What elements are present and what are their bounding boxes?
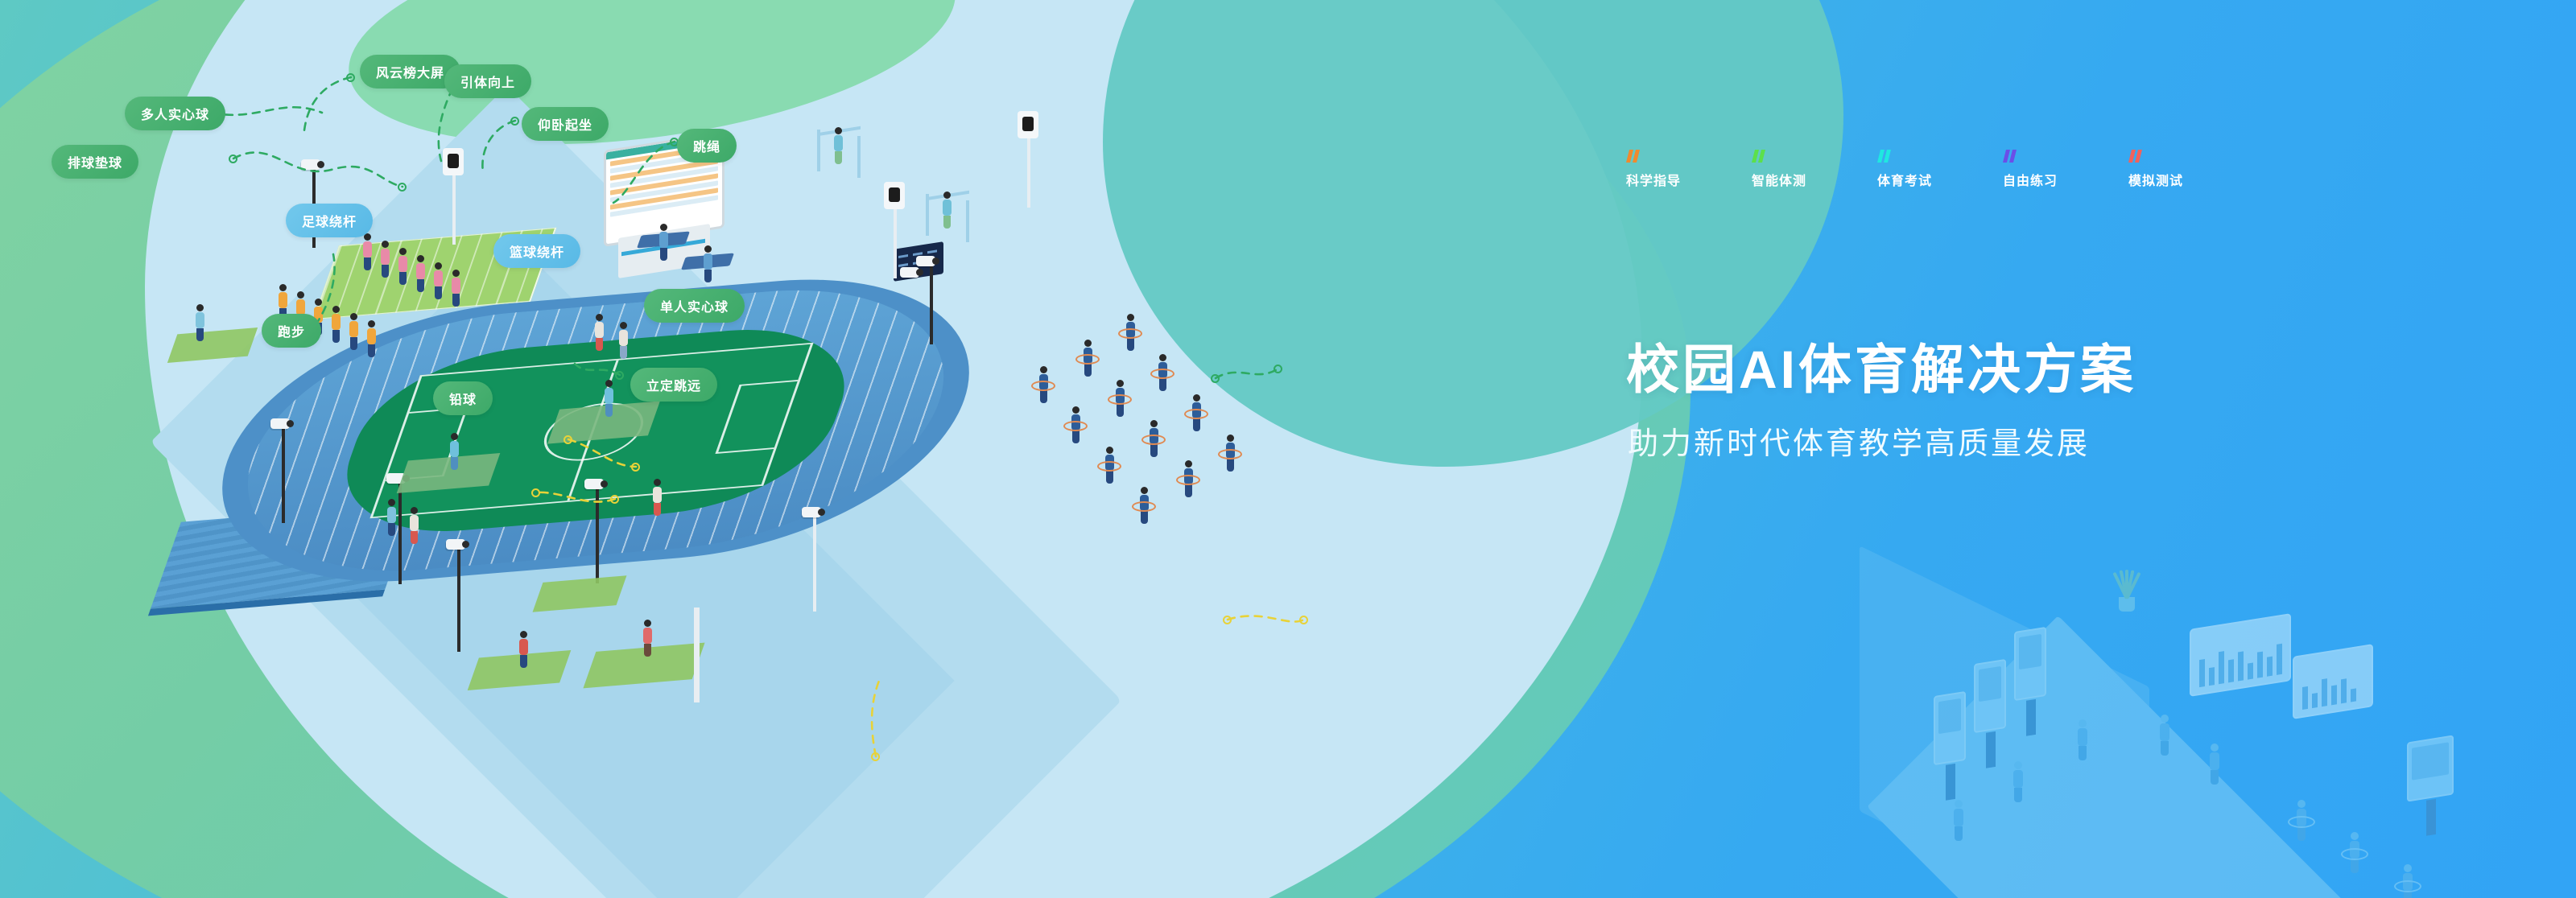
connector-dot	[631, 463, 640, 472]
pill-text: 仰卧起坐	[538, 114, 592, 134]
connector-dot	[1274, 365, 1282, 373]
cctv-camera-icon	[900, 267, 919, 278]
boxcam-pole	[894, 209, 897, 278]
person-longjump	[642, 620, 652, 657]
person-hoop	[1115, 380, 1125, 417]
person-shotput	[518, 631, 528, 668]
person-football	[604, 380, 613, 417]
right-content: 科学指导 智能体测 体育考试	[1618, 0, 2576, 898]
person-runner	[594, 314, 604, 351]
person-pullup	[942, 192, 952, 229]
ai-box-camera-icon	[443, 148, 464, 175]
connector-dot	[1223, 616, 1232, 624]
slash-bar	[2009, 150, 2017, 163]
connector-dot	[229, 154, 237, 163]
banner-root: 多人实心球 排球垫球 风云榜大屏 引体向上 仰卧起坐 跳绳 足球绕杆 篮球绕杆 …	[0, 0, 2576, 898]
person-hoop	[1183, 460, 1193, 497]
feature-list: 科学指导 智能体测 体育考试	[1626, 150, 2254, 189]
cctv-camera-icon	[584, 479, 604, 489]
person	[362, 233, 372, 270]
person	[451, 270, 460, 307]
connector-dot	[346, 73, 355, 82]
ai-box-camera-icon	[1018, 111, 1038, 138]
person	[415, 255, 425, 292]
cctv-camera-icon	[446, 539, 465, 550]
connector-dot	[531, 488, 540, 497]
isometric-campus-scene	[121, 80, 1489, 821]
slash-icon	[1626, 150, 1752, 163]
boxcam-pole	[452, 175, 456, 245]
person-hoop	[1083, 340, 1092, 377]
person-hoop	[1104, 447, 1114, 484]
label-pill-yangwoqizuo[interactable]: 仰卧起坐	[522, 107, 609, 141]
person-runner	[652, 479, 662, 516]
pill-text: 跳绳	[693, 136, 720, 155]
person-hoop	[1038, 366, 1048, 403]
person-hoop	[1158, 354, 1167, 391]
slash-icon	[1877, 150, 2003, 163]
cctv-camera-icon	[916, 256, 935, 266]
person	[433, 262, 443, 299]
long-jump-marker-pole	[694, 608, 700, 702]
person-hoop	[1191, 394, 1201, 431]
person-pullup	[833, 127, 843, 164]
person-hoop	[1139, 487, 1149, 524]
label-pill-zuqiuraogan[interactable]: 足球绕杆	[286, 204, 373, 237]
pill-text: 足球绕杆	[302, 211, 357, 230]
cctv-camera-icon	[301, 159, 320, 170]
person-situp	[658, 224, 668, 261]
pill-text: 立定跳远	[646, 375, 701, 394]
label-pill-danrenshixinqiu[interactable]: 单人实心球	[644, 289, 745, 323]
camera-pole	[398, 481, 402, 584]
camera-pole	[596, 487, 599, 583]
slash-bar	[1633, 150, 1640, 163]
label-pill-qianqiu[interactable]: 铅球	[433, 381, 493, 415]
person-basketball	[449, 433, 459, 470]
feature-item-3[interactable]: 自由练习	[2003, 150, 2128, 189]
connector-dot	[615, 371, 624, 380]
person	[349, 313, 358, 350]
feature-label: 体育考试	[1877, 170, 2003, 189]
person-runner	[409, 507, 419, 544]
label-pill-yintixiangshang[interactable]: 引体向上	[444, 64, 531, 98]
person	[331, 306, 341, 343]
label-pill-lanqiuraogan[interactable]: 篮球绕杆	[493, 234, 580, 268]
person-hoop	[1149, 420, 1158, 457]
person-hoop	[1125, 314, 1135, 351]
connector-dot	[510, 117, 519, 126]
cctv-camera-icon	[802, 507, 821, 517]
slash-icon	[2128, 150, 2254, 163]
label-pill-tiaosheng[interactable]: 跳绳	[677, 129, 737, 163]
slash-icon	[1752, 150, 1877, 163]
person-volleyball	[195, 304, 204, 341]
slash-bar	[1884, 150, 1891, 163]
person-runner	[386, 499, 396, 536]
feature-item-1[interactable]: 智能体测	[1752, 150, 1877, 189]
pill-text: 引体向上	[460, 72, 515, 91]
page-title: 校园AI体育解决方案	[1626, 327, 2136, 404]
person-hoop	[1071, 406, 1080, 443]
label-pill-paiqiudianqiu[interactable]: 排球垫球	[52, 145, 138, 179]
person	[398, 248, 407, 285]
pill-text: 篮球绕杆	[510, 241, 564, 261]
page-subtitle: 助力新时代体育教学高质量发展	[1628, 418, 2090, 463]
pill-text: 多人实心球	[141, 104, 209, 123]
boxcam-pole	[1027, 138, 1030, 208]
person	[366, 320, 376, 357]
ai-box-camera-icon	[884, 182, 905, 209]
pill-text: 铅球	[449, 389, 477, 408]
slash-icon	[2003, 150, 2128, 163]
person-situp	[703, 245, 712, 282]
person	[380, 241, 390, 278]
connector-dot	[1299, 616, 1308, 624]
feature-label: 自由练习	[2003, 170, 2128, 189]
feature-label: 科学指导	[1626, 170, 1752, 189]
camera-pole	[930, 266, 933, 344]
camera-pole	[282, 426, 285, 523]
pill-text: 单人实心球	[660, 296, 729, 315]
cctv-camera-icon	[270, 418, 290, 429]
slash-bar	[1758, 150, 1765, 163]
connector-dot	[610, 495, 619, 504]
feature-label: 智能体测	[1752, 170, 1877, 189]
connector-dot	[398, 183, 407, 192]
connector-dot	[871, 752, 880, 761]
label-pill-lidingtiaoyuan[interactable]: 立定跳远	[630, 368, 717, 402]
camera-pole	[813, 515, 816, 612]
feature-item-0[interactable]: 科学指导	[1626, 150, 1752, 189]
pill-text: 风云榜大屏	[376, 62, 444, 81]
feature-item-4[interactable]: 模拟测试	[2128, 150, 2254, 189]
connector-dot	[563, 435, 572, 444]
feature-item-2[interactable]: 体育考试	[1877, 150, 2003, 189]
label-pill-paobu[interactable]: 跑步	[262, 314, 321, 348]
label-pill-duorenshixinqiu[interactable]: 多人实心球	[125, 97, 225, 130]
person-runner	[618, 322, 628, 359]
slash-bar	[2135, 150, 2142, 163]
feature-label: 模拟测试	[2128, 170, 2254, 189]
pill-text: 跑步	[278, 321, 305, 340]
pill-text: 排球垫球	[68, 152, 122, 171]
connector-dot	[1211, 374, 1220, 383]
camera-pole	[457, 547, 460, 652]
person-hoop	[1225, 435, 1235, 472]
